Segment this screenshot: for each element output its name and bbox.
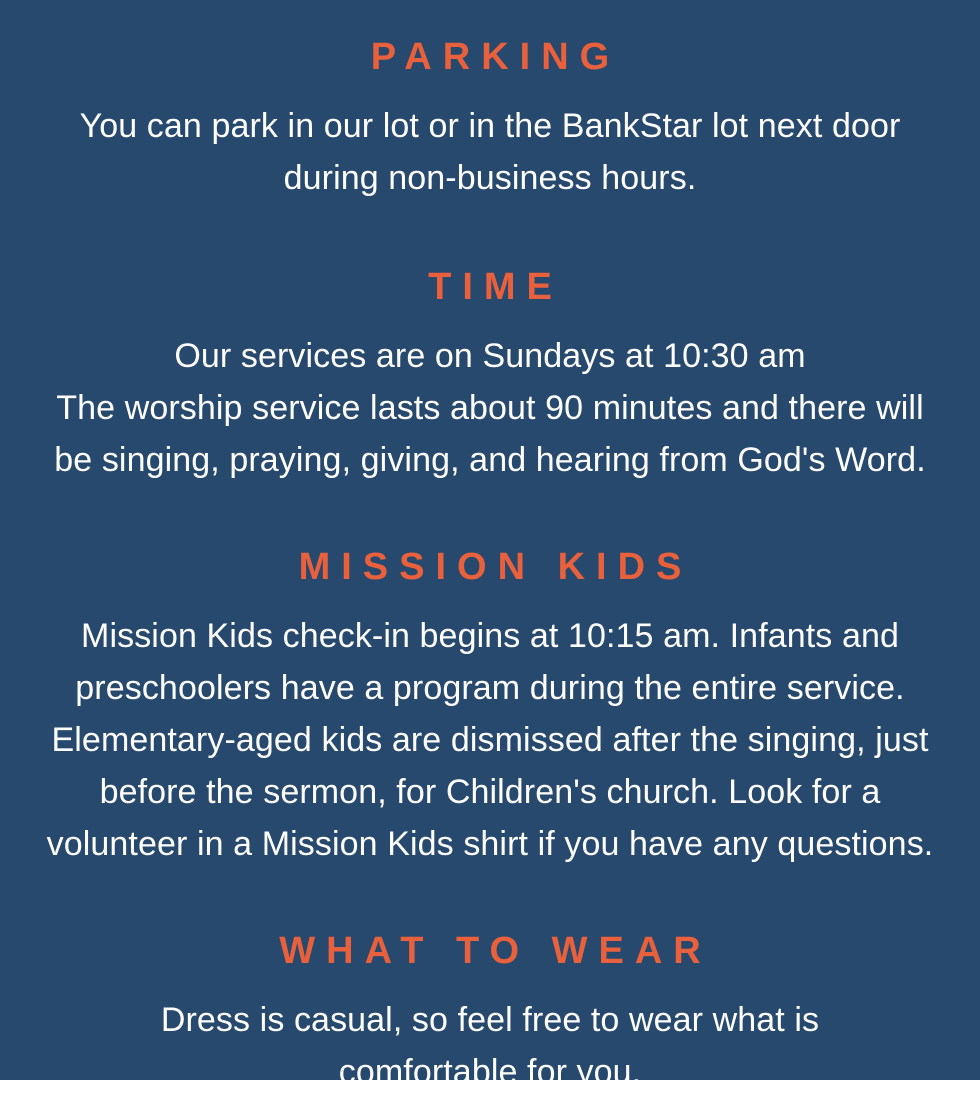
body-line: Mission Kids check-in begins at 10:15 am… <box>8 610 972 662</box>
section-heading-mission-kids: MISSION KIDS <box>8 548 972 588</box>
section-parking: PARKING You can park in our lot or in th… <box>8 38 972 204</box>
body-line: comfortable for you. <box>8 1046 972 1098</box>
section-what-to-wear: WHAT TO WEAR Dress is casual, so feel fr… <box>8 932 972 1098</box>
body-line: before the sermon, for Children's church… <box>8 766 972 818</box>
service-info-page: PARKING You can park in our lot or in th… <box>0 0 980 1080</box>
section-body-parking: You can park in our lot or in the BankSt… <box>8 100 972 204</box>
section-body-what-to-wear: Dress is casual, so feel free to wear wh… <box>8 994 972 1098</box>
body-line: The worship service lasts about 90 minut… <box>8 382 972 434</box>
body-line: during non-business hours. <box>8 152 972 204</box>
section-time: TIME Our services are on Sundays at 10:3… <box>8 268 972 486</box>
section-heading-parking: PARKING <box>8 38 972 78</box>
body-line: volunteer in a Mission Kids shirt if you… <box>8 818 972 870</box>
section-mission-kids: MISSION KIDS Mission Kids check-in begin… <box>8 548 972 870</box>
body-line: preschoolers have a program during the e… <box>8 662 972 714</box>
section-heading-what-to-wear: WHAT TO WEAR <box>8 932 972 972</box>
body-line: Elementary-aged kids are dismissed after… <box>8 714 972 766</box>
body-line: Our services are on Sundays at 10:30 am <box>8 330 972 382</box>
body-line: Dress is casual, so feel free to wear wh… <box>8 994 972 1046</box>
body-line: You can park in our lot or in the BankSt… <box>8 100 972 152</box>
section-body-mission-kids: Mission Kids check-in begins at 10:15 am… <box>8 610 972 870</box>
section-body-time: Our services are on Sundays at 10:30 am … <box>8 330 972 486</box>
body-line: be singing, praying, giving, and hearing… <box>8 434 972 486</box>
section-heading-time: TIME <box>8 268 972 308</box>
